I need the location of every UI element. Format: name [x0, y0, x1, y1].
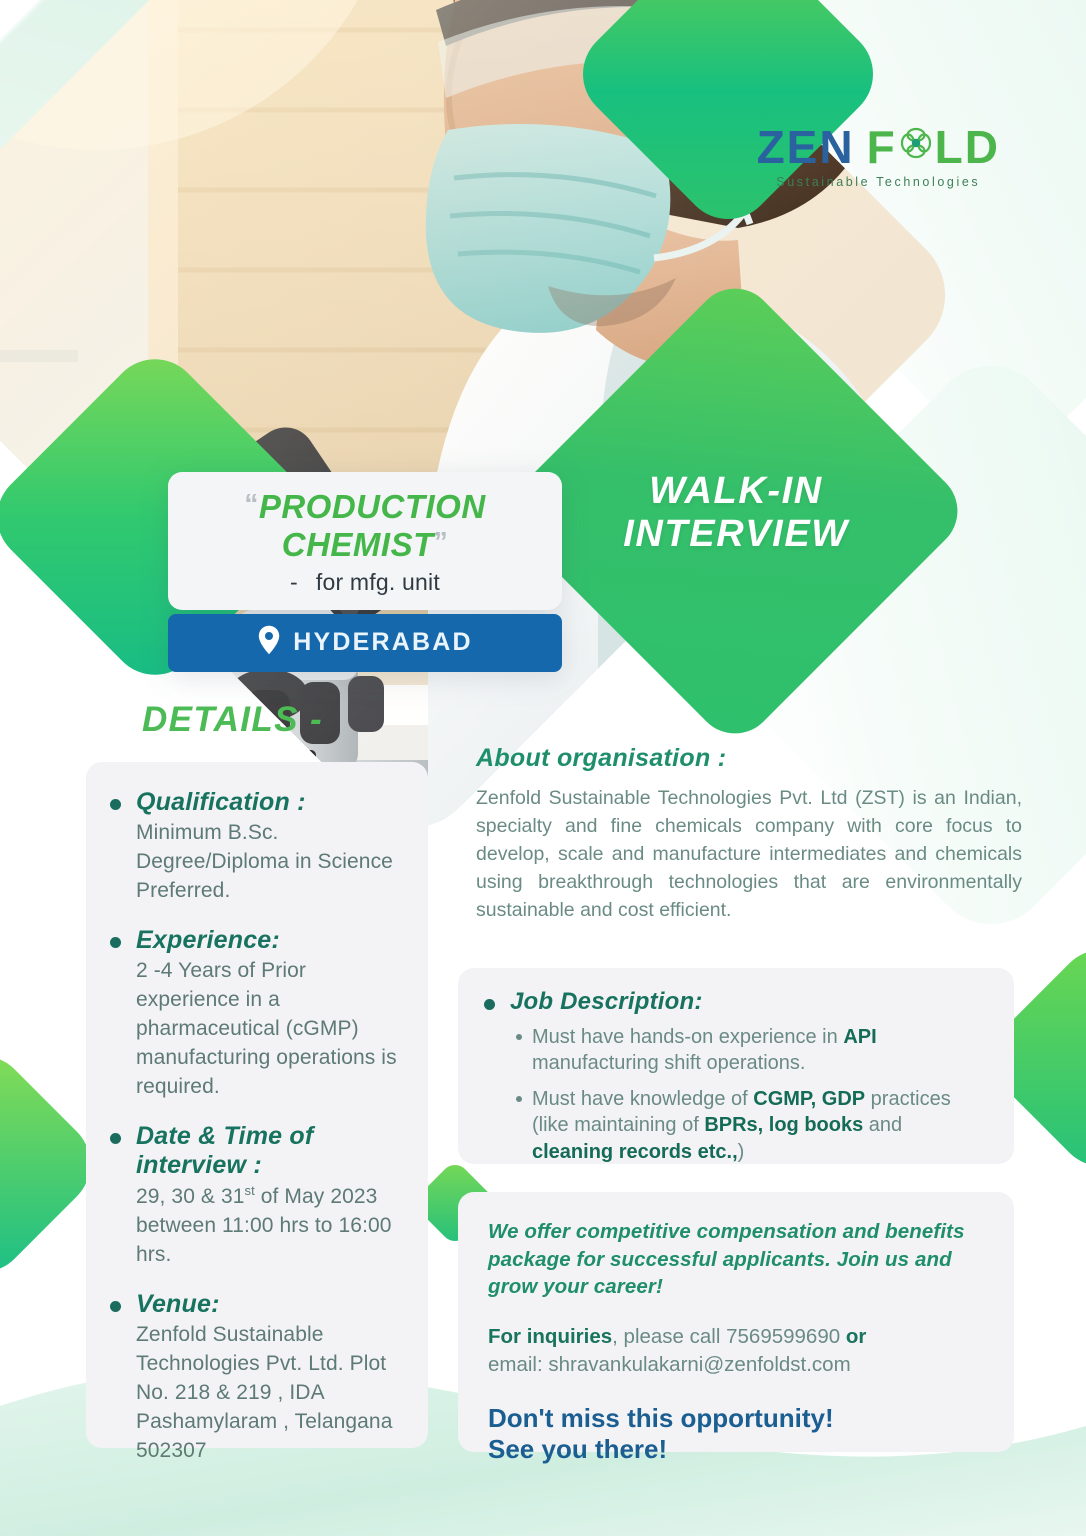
- offer-contact-card: We offer competitive compensation and be…: [458, 1192, 1014, 1452]
- detail-body: 29, 30 & 31st of May 2023 between 11:00 …: [136, 1182, 406, 1270]
- about-body: Zenfold Sustainable Technologies Pvt. Lt…: [476, 785, 1022, 924]
- jd2-mid-2: and: [863, 1114, 902, 1136]
- quote-open: “: [244, 488, 259, 519]
- job-description-list: Must have hands-on experience in API man…: [484, 1024, 988, 1165]
- date-ordinal-suffix: st: [245, 1183, 255, 1198]
- detail-item-date-time: Date & Time of interview : 29, 30 & 31st…: [108, 1122, 406, 1270]
- job-title-line-2: CHEMIST: [282, 526, 434, 563]
- flower-molecule-icon: [895, 122, 937, 171]
- detail-item-qualification: Qualification : Minimum B.Sc. Degree/Dip…: [108, 788, 406, 906]
- job-description-heading: Job Description:: [510, 988, 703, 1015]
- job-title-card: “PRODUCTION CHEMIST” -for mfg. unit HYDE…: [168, 472, 562, 672]
- details-heading: DETAILS -: [142, 700, 323, 740]
- inquiries-label: For inquiries: [488, 1325, 612, 1348]
- about-organisation-section: About organisation : Zenfold Sustainable…: [476, 744, 1022, 924]
- bullet-icon: [110, 799, 121, 810]
- detail-head: Date & Time of interview :: [136, 1122, 406, 1180]
- company-logo: ZEN F LD Sustainable T: [757, 122, 1000, 189]
- job-subtitle-dash: -: [290, 569, 298, 595]
- logo-text-ld: LD: [935, 124, 1000, 170]
- email-label: email:: [488, 1353, 548, 1376]
- job-title-line-1: PRODUCTION: [259, 488, 486, 525]
- walkin-line-1: WALK-IN: [566, 470, 906, 513]
- location-bar: HYDERABAD: [168, 614, 562, 672]
- job-subtitle-text: for mfg. unit: [316, 569, 440, 595]
- jd2-post: ): [738, 1141, 745, 1163]
- jd1-mid: manufacturing shift operations.: [532, 1052, 806, 1074]
- job-subtitle: -for mfg. unit: [188, 569, 542, 596]
- bullet-icon: [110, 937, 121, 948]
- contact-email[interactable]: shravankulakarni@zenfoldst.com: [548, 1353, 850, 1376]
- jd2-bold-1: CGMP, GDP: [753, 1088, 865, 1110]
- bullet-icon: [110, 1301, 121, 1312]
- bullet-icon: [110, 1133, 121, 1144]
- job-description-item: Must have knowledge of CGMP, GDP practic…: [516, 1086, 988, 1165]
- job-description-card: Job Description: Must have hands-on expe…: [458, 968, 1014, 1164]
- location-city: HYDERABAD: [293, 628, 473, 657]
- offer-pitch: We offer competitive compensation and be…: [488, 1218, 984, 1301]
- jd2-pre: Must have knowledge of: [532, 1088, 753, 1110]
- details-card: Qualification : Minimum B.Sc. Degree/Dip…: [86, 762, 428, 1448]
- contact-phone[interactable]: 7569599690: [726, 1325, 840, 1348]
- inquiries-mid: , please call: [612, 1325, 726, 1348]
- logo-text-zen: ZEN: [757, 124, 855, 170]
- call-to-action: Don't miss this opportunity! See you the…: [488, 1403, 984, 1466]
- recruitment-flyer: ZEN F LD Sustainable T: [0, 0, 1086, 1536]
- logo-text-f: F: [867, 124, 897, 170]
- walkin-line-2: INTERVIEW: [566, 513, 906, 556]
- detail-body: 2 -4 Years of Prior experience in a phar…: [136, 957, 406, 1102]
- quote-close: ”: [434, 526, 449, 557]
- detail-body: Minimum B.Sc. Degree/Diploma in Science …: [136, 819, 406, 906]
- date-pre: 29, 30 & 31: [136, 1185, 245, 1208]
- cta-line-1: Don't miss this opportunity!: [488, 1403, 984, 1435]
- job-title-panel: “PRODUCTION CHEMIST” -for mfg. unit: [168, 472, 562, 610]
- inquiries-or: or: [840, 1325, 866, 1348]
- bullet-icon: [484, 999, 495, 1010]
- detail-item-experience: Experience: 2 -4 Years of Prior experien…: [108, 926, 406, 1102]
- job-title: “PRODUCTION CHEMIST”: [188, 488, 542, 565]
- cta-line-2: See you there!: [488, 1434, 984, 1466]
- walkin-interview-headline: WALK-IN INTERVIEW: [566, 470, 906, 557]
- jd2-bold-2: BPRs, log books: [704, 1114, 863, 1136]
- offer-email-line: email: shravankulakarni@zenfoldst.com: [488, 1351, 984, 1379]
- job-description-item: Must have hands-on experience in API man…: [516, 1024, 988, 1077]
- offer-contact-lines: For inquiries, please call 7569599690 or…: [488, 1323, 984, 1379]
- offer-phone-line: For inquiries, please call 7569599690 or: [488, 1323, 984, 1351]
- job-description-heading-row: Job Description:: [484, 988, 988, 1016]
- detail-head: Venue:: [136, 1290, 406, 1319]
- detail-head: Experience:: [136, 926, 406, 955]
- location-pin-icon: [257, 625, 281, 660]
- detail-body: Zenfold Sustainable Technologies Pvt. Lt…: [136, 1321, 406, 1466]
- detail-item-venue: Venue: Zenfold Sustainable Technologies …: [108, 1290, 406, 1466]
- jd1-pre: Must have hands-on experience in: [532, 1026, 843, 1048]
- jd1-bold: API: [843, 1026, 876, 1048]
- jd2-bold-3: cleaning records etc.,: [532, 1141, 738, 1163]
- about-heading: About organisation :: [476, 744, 1022, 773]
- detail-head: Qualification :: [136, 788, 406, 817]
- logo-tagline: Sustainable Technologies: [757, 175, 1000, 189]
